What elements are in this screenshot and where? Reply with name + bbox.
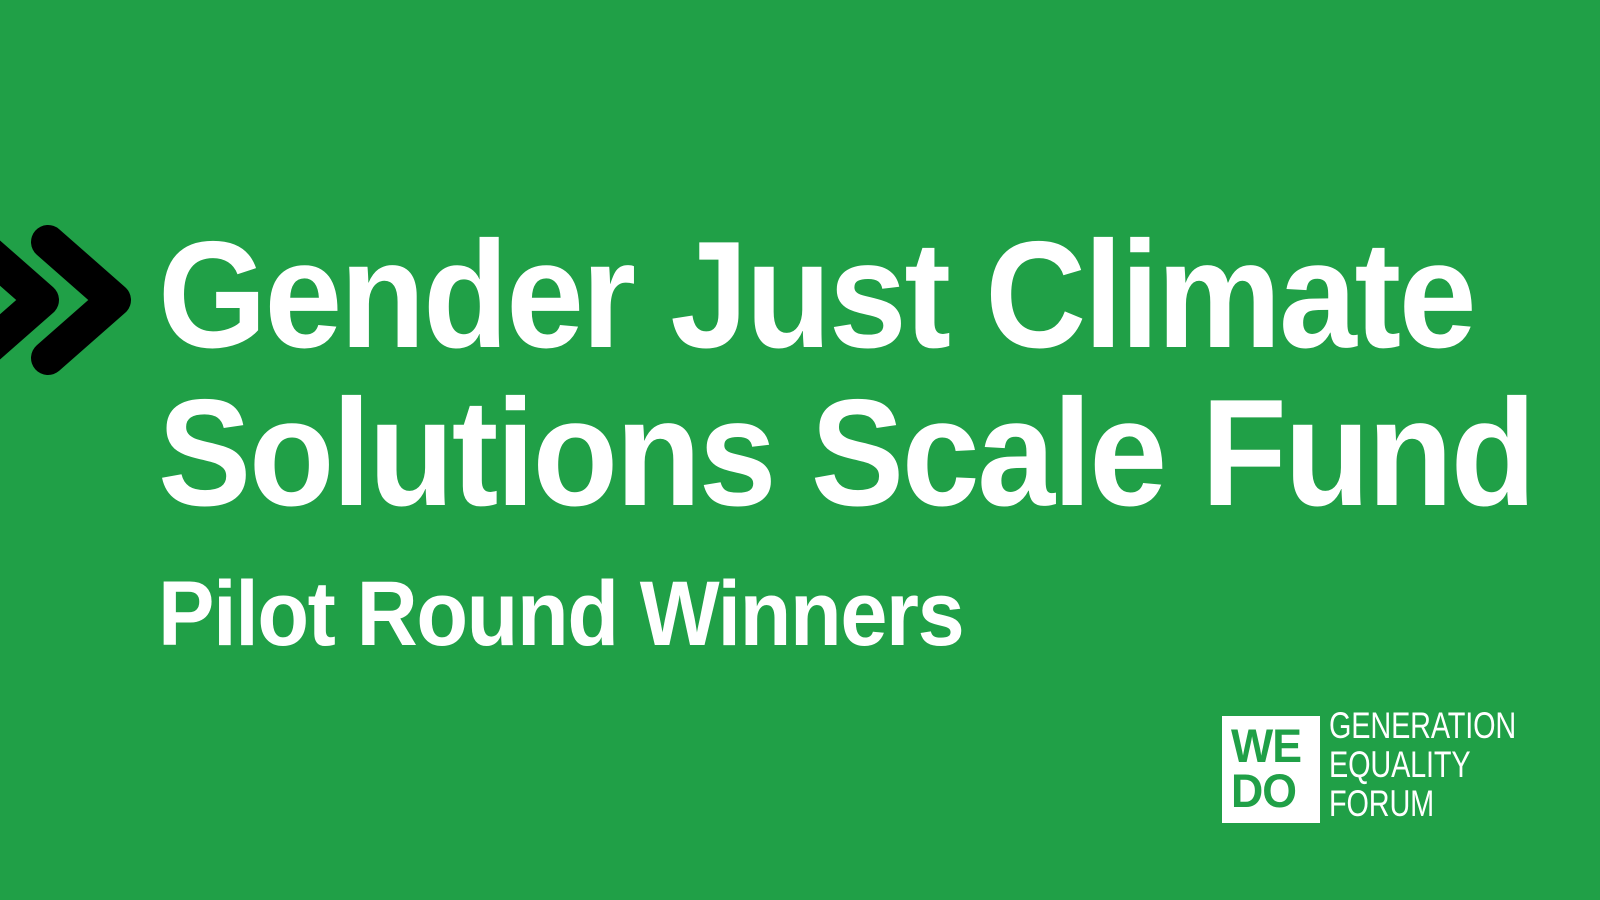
logo-lockup: WE DO GENERATION EQUALITY FORUM [1222, 700, 1569, 823]
page-title-line-1: Gender Just Climate [158, 216, 1372, 374]
page-title-line-2: Solutions Scale Fund [158, 374, 1372, 532]
page-title: Gender Just Climate Solutions Scale Fund… [158, 216, 1478, 662]
wedo-logo-text: WE DO [1231, 723, 1313, 813]
gef-wordmark-line-3: FORUM [1329, 784, 1516, 823]
gef-wordmark-line-2: EQUALITY [1329, 745, 1516, 784]
banner-slide: Gender Just Climate Solutions Scale Fund… [0, 0, 1600, 900]
wedo-logo-line-2: DO [1231, 768, 1309, 813]
double-chevron-right-icon [0, 222, 132, 378]
wedo-logo-mark: WE DO [1222, 716, 1320, 823]
page-subtitle: Pilot Round Winners [158, 566, 1372, 662]
gef-wordmark-line-1: GENERATION [1329, 706, 1516, 745]
wedo-logo-line-1: WE [1231, 723, 1309, 768]
generation-equality-forum-wordmark: GENERATION EQUALITY FORUM [1329, 700, 1569, 823]
